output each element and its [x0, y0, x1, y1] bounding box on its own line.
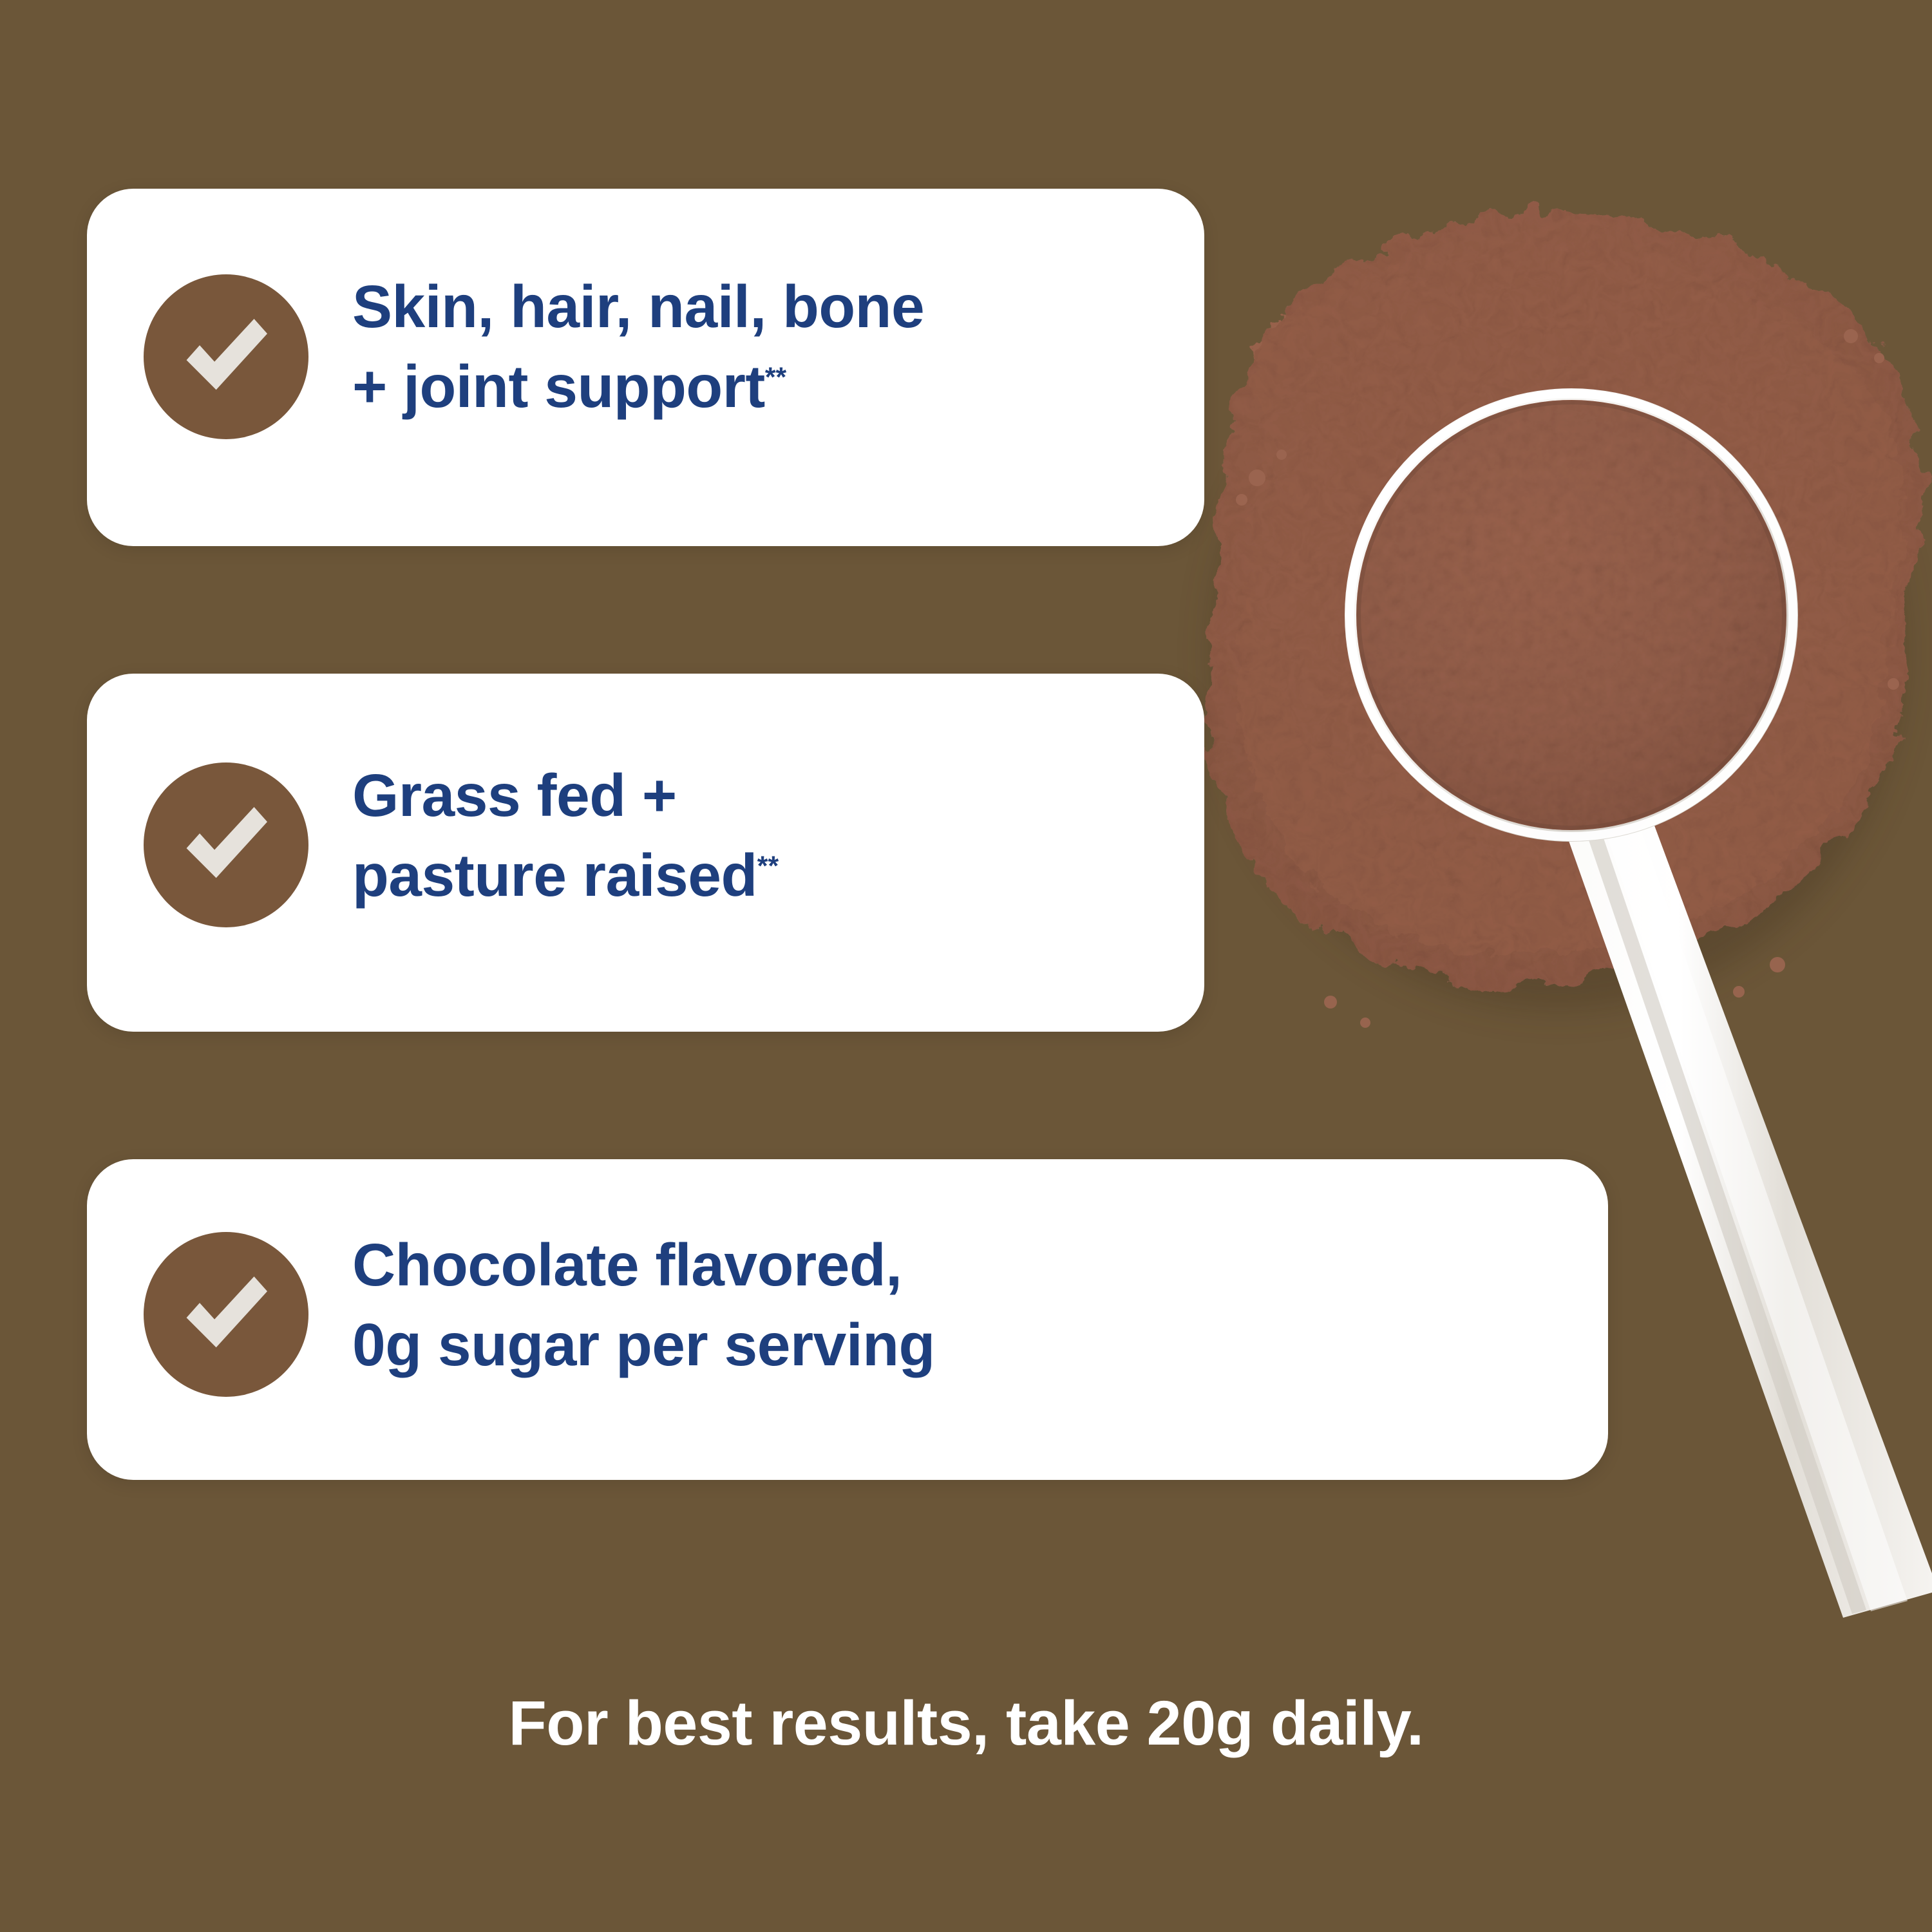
benefit-card-2-line2: pasture raised [352, 842, 757, 909]
powder-shadow [1211, 290, 1906, 1011]
powder-pile [1206, 212, 1924, 982]
benefit-card-1-line1: Skin, hair, nail, bone [352, 273, 924, 340]
footer-tagline: For best results, take 20g daily. [0, 1687, 1932, 1759]
benefit-card-2: Grass fed +pasture raised** [87, 674, 1204, 1032]
check-icon [144, 762, 308, 927]
benefit-card-1: Skin, hair, nail, bone+ joint support** [87, 189, 1204, 546]
benefit-card-3-text: Chocolate flavored,0g sugar per serving [352, 1226, 935, 1385]
scoop-bowl [1345, 388, 1798, 842]
check-icon [144, 274, 308, 439]
powder-texture [1206, 212, 1924, 982]
benefit-card-3-line1: Chocolate flavored, [352, 1231, 902, 1298]
benefit-card-1-text: Skin, hair, nail, bone+ joint support** [352, 267, 924, 426]
benefit-card-3: Chocolate flavored,0g sugar per serving [87, 1159, 1608, 1480]
benefit-card-2-text: Grass fed +pasture raised** [352, 756, 779, 915]
benefit-card-3-line2: 0g sugar per serving [352, 1311, 935, 1378]
product-benefits-graphic: Skin, hair, nail, bone+ joint support** … [0, 0, 1932, 1932]
benefit-card-2-line1: Grass fed + [352, 762, 677, 829]
powder-scatter [1238, 249, 1902, 954]
benefit-card-1-line2: + joint support [352, 353, 765, 420]
powder-specks [1236, 329, 1899, 1028]
benefit-card-1-footnote: ** [765, 362, 786, 393]
check-icon [144, 1232, 308, 1397]
benefit-card-2-footnote: ** [757, 851, 779, 882]
